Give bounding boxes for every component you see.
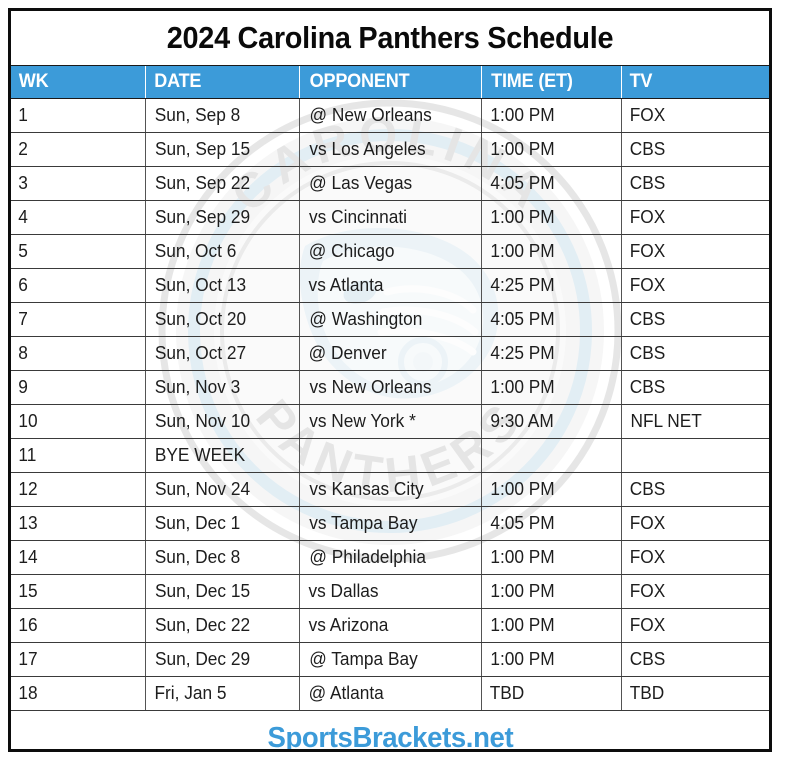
table-row: 2 Sun, Sep 15 vs Los Angeles 1:00 PM CBS [11,133,769,167]
week-value: 12 [18,479,37,500]
cell-date: Sun, Dec 1 [145,507,299,541]
cell-tv: FOX [621,609,769,643]
table-row: 10 Sun, Nov 10 vs New York * 9:30 AM NFL… [11,405,769,439]
cell-week: 2 [11,133,145,167]
cell-time: 1:00 PM [481,643,621,677]
tv-value: CBS [629,139,665,160]
cell-date: Sun, Oct 6 [145,235,299,269]
cell-week: 6 [11,269,145,303]
cell-time [481,439,621,473]
week-value: 9 [18,377,28,398]
footer-cell: SportsBrackets.net [11,711,769,753]
week-value: 2 [18,139,28,160]
cell-opponent: @ Chicago [299,235,481,269]
sportsbrackets-link[interactable]: SportsBrackets.net [267,722,513,753]
cell-date: Sun, Oct 20 [145,303,299,337]
table-row: 18 Fri, Jan 5 @ Atlanta TBD TBD [11,677,769,711]
cell-tv: NFL NET [621,405,769,439]
time-value: 1:00 PM [490,615,554,636]
date-value: Sun, Dec 8 [154,547,240,568]
time-value: 4:25 PM [490,343,554,364]
column-header-date: DATE [145,66,299,99]
opponent-value: @ Philadelphia [309,547,426,568]
cell-opponent: vs Atlanta [299,269,481,303]
column-header-row: WK DATE OPPONENT TIME (ET) TV [11,66,769,99]
cell-opponent: @ New Orleans [299,99,481,133]
cell-tv: CBS [621,337,769,371]
week-value: 1 [18,105,28,126]
table-row: 15 Sun, Dec 15 vs Dallas 1:00 PM FOX [11,575,769,609]
time-value: 4:05 PM [490,309,554,330]
cell-opponent: vs New Orleans [299,371,481,405]
cell-week: 3 [11,167,145,201]
tv-value: CBS [629,377,665,398]
schedule-grid: 2024 Carolina Panthers Schedule WK DATE … [11,11,769,752]
cell-week: 7 [11,303,145,337]
cell-time: 1:00 PM [481,201,621,235]
week-value: 17 [18,649,37,670]
table-row: 14 Sun, Dec 8 @ Philadelphia 1:00 PM FOX [11,541,769,575]
footer-row: SportsBrackets.net [11,711,769,753]
week-value: 8 [18,343,28,364]
cell-date: Sun, Dec 29 [145,643,299,677]
time-value: 1:00 PM [490,105,554,126]
cell-tv: CBS [621,303,769,337]
time-value: 1:00 PM [490,139,554,160]
cell-time: TBD [481,677,621,711]
cell-tv: CBS [621,371,769,405]
cell-time: 1:00 PM [481,371,621,405]
week-value: 14 [18,547,37,568]
cell-week: 1 [11,99,145,133]
opponent-value: @ Denver [308,343,386,364]
cell-week: 11 [11,439,145,473]
cell-date: Sun, Nov 24 [145,473,299,507]
table-row: 9 Sun, Nov 3 vs New Orleans 1:00 PM CBS [11,371,769,405]
cell-time: 9:30 AM [481,405,621,439]
table-row: 5 Sun, Oct 6 @ Chicago 1:00 PM FOX [11,235,769,269]
time-value: 1:00 PM [490,649,554,670]
table-row: 12 Sun, Nov 24 vs Kansas City 1:00 PM CB… [11,473,769,507]
week-value: 16 [18,615,37,636]
date-value: BYE WEEK [154,445,244,466]
time-value: 4:05 PM [490,513,554,534]
opponent-value: vs New Orleans [309,377,431,398]
week-value: 18 [18,683,37,704]
date-value: Sun, Oct 13 [154,275,245,296]
table-row-bye-week: 11 BYE WEEK [11,439,769,473]
cell-date: Sun, Dec 15 [145,575,299,609]
page-title-text: 2024 Carolina Panthers Schedule [167,20,613,56]
opponent-value: @ Las Vegas [309,173,412,194]
time-value: 1:00 PM [490,207,554,228]
cell-opponent: vs Tampa Bay [299,507,481,541]
date-value: Sun, Dec 15 [154,581,249,602]
tv-value: CBS [629,343,665,364]
cell-week: 12 [11,473,145,507]
time-value: 4:05 PM [490,173,554,194]
cell-date: Sun, Dec 8 [145,541,299,575]
opponent-value: vs Los Angeles [309,139,425,160]
week-value: 13 [18,513,37,534]
cell-tv: FOX [621,269,769,303]
week-value: 4 [18,207,28,228]
opponent-value: @ Tampa Bay [309,649,417,670]
opponent-value: vs Atlanta [308,275,383,296]
opponent-value: @ Washington [309,309,422,330]
week-value: 3 [18,173,28,194]
tv-value: CBS [629,173,665,194]
cell-date: Sun, Sep 29 [145,201,299,235]
cell-tv: CBS [621,167,769,201]
time-value: 1:00 PM [490,479,554,500]
date-value: Sun, Dec 29 [154,649,249,670]
cell-date: BYE WEEK [145,439,299,473]
column-header-wk: WK [11,66,145,99]
table-row: 17 Sun, Dec 29 @ Tampa Bay 1:00 PM CBS [11,643,769,677]
date-value: Sun, Oct 20 [154,309,245,330]
week-value: 5 [18,241,28,262]
date-value: Sun, Sep 15 [154,139,249,160]
cell-week: 4 [11,201,145,235]
cell-time: 1:00 PM [481,235,621,269]
date-value: Sun, Nov 24 [154,479,249,500]
table-row: 16 Sun, Dec 22 vs Arizona 1:00 PM FOX [11,609,769,643]
cell-time: 1:00 PM [481,99,621,133]
cell-opponent: vs Los Angeles [299,133,481,167]
time-value: 1:00 PM [490,581,554,602]
opponent-value: vs Cincinnati [309,207,407,228]
time-value: 1:00 PM [490,241,554,262]
week-value: 15 [18,581,37,602]
column-header-time-label: TIME (ET) [491,71,573,93]
tv-value: FOX [629,547,665,568]
tv-value: CBS [629,479,665,500]
cell-time: 4:25 PM [481,269,621,303]
cell-date: Sun, Oct 27 [145,337,299,371]
column-header-tv-label: TV [629,71,652,93]
week-value: 7 [18,309,28,330]
cell-date: Sun, Nov 3 [145,371,299,405]
cell-tv: FOX [621,507,769,541]
cell-week: 15 [11,575,145,609]
cell-tv: FOX [621,541,769,575]
opponent-value: vs Arizona [308,615,388,636]
cell-time: 4:05 PM [481,507,621,541]
opponent-value: @ New Orleans [309,105,431,126]
date-value: Sun, Nov 10 [154,411,249,432]
cell-opponent: vs Arizona [299,609,481,643]
time-value: 9:30 AM [490,411,553,432]
week-value: 11 [18,445,36,466]
time-value: 1:00 PM [490,547,554,568]
opponent-value: @ Atlanta [308,683,383,704]
cell-week: 8 [11,337,145,371]
column-header-time: TIME (ET) [481,66,621,99]
cell-date: Sun, Oct 13 [145,269,299,303]
time-value: 4:25 PM [490,275,554,296]
tv-value: FOX [629,105,665,126]
date-value: Sun, Sep 29 [154,207,249,228]
cell-tv: TBD [621,677,769,711]
tv-value: CBS [629,649,665,670]
cell-opponent: vs Dallas [299,575,481,609]
cell-date: Fri, Jan 5 [145,677,299,711]
column-header-opponent: OPPONENT [299,66,481,99]
cell-tv: FOX [621,575,769,609]
cell-tv: CBS [621,643,769,677]
tv-value: FOX [629,275,665,296]
cell-opponent [299,439,481,473]
table-row: 6 Sun, Oct 13 vs Atlanta 4:25 PM FOX [11,269,769,303]
cell-week: 14 [11,541,145,575]
schedule-table-frame: CAROLINA PANTHERS [8,8,772,752]
cell-week: 18 [11,677,145,711]
cell-date: Sun, Sep 22 [145,167,299,201]
date-value: Sun, Oct 6 [154,241,236,262]
date-value: Sun, Nov 3 [154,377,240,398]
date-value: Fri, Jan 5 [154,683,226,704]
cell-opponent: @ Denver [299,337,481,371]
cell-tv: CBS [621,133,769,167]
date-value: Sun, Dec 22 [154,615,249,636]
week-value: 6 [18,275,28,296]
cell-opponent: vs Cincinnati [299,201,481,235]
date-value: Sun, Dec 1 [154,513,240,534]
tv-value: TBD [629,683,664,704]
tv-value: FOX [629,513,665,534]
cell-time: 1:00 PM [481,541,621,575]
cell-week: 10 [11,405,145,439]
cell-tv: CBS [621,473,769,507]
cell-opponent: vs Kansas City [299,473,481,507]
opponent-value: @ Chicago [308,241,394,262]
table-row: 13 Sun, Dec 1 vs Tampa Bay 4:05 PM FOX [11,507,769,541]
schedule-page: CAROLINA PANTHERS [0,0,788,768]
cell-tv [621,439,769,473]
cell-time: 1:00 PM [481,473,621,507]
table-row: 8 Sun, Oct 27 @ Denver 4:25 PM CBS [11,337,769,371]
cell-time: 1:00 PM [481,609,621,643]
table-row: 1 Sun, Sep 8 @ New Orleans 1:00 PM FOX [11,99,769,133]
column-header-tv: TV [621,66,769,99]
cell-opponent: @ Washington [299,303,481,337]
cell-week: 9 [11,371,145,405]
cell-time: 4:05 PM [481,303,621,337]
tv-value: FOX [629,241,665,262]
cell-date: Sun, Sep 8 [145,99,299,133]
tv-value: CBS [629,309,665,330]
cell-tv: FOX [621,235,769,269]
cell-week: 17 [11,643,145,677]
week-value: 10 [18,411,37,432]
cell-week: 13 [11,507,145,541]
opponent-value: vs Kansas City [309,479,423,500]
date-value: Sun, Oct 27 [154,343,245,364]
table-row: 7 Sun, Oct 20 @ Washington 4:05 PM CBS [11,303,769,337]
title-row: 2024 Carolina Panthers Schedule [11,11,769,66]
tv-value: NFL NET [630,411,701,432]
column-header-date-label: DATE [154,71,201,93]
cell-date: Sun, Nov 10 [145,405,299,439]
tv-value: FOX [629,615,665,636]
table-row: 4 Sun, Sep 29 vs Cincinnati 1:00 PM FOX [11,201,769,235]
cell-time: 4:05 PM [481,167,621,201]
tv-value: FOX [629,581,665,602]
cell-time: 1:00 PM [481,133,621,167]
cell-time: 1:00 PM [481,575,621,609]
cell-opponent: vs New York * [299,405,481,439]
cell-opponent: @ Philadelphia [299,541,481,575]
page-title: 2024 Carolina Panthers Schedule [11,11,769,66]
cell-opponent: @ Atlanta [299,677,481,711]
cell-opponent: @ Las Vegas [299,167,481,201]
opponent-value: vs New York * [309,411,416,432]
column-header-opponent-label: OPPONENT [309,71,409,93]
table-row: 3 Sun, Sep 22 @ Las Vegas 4:05 PM CBS [11,167,769,201]
cell-date: Sun, Sep 15 [145,133,299,167]
opponent-value: vs Dallas [308,581,378,602]
cell-date: Sun, Dec 22 [145,609,299,643]
date-value: Sun, Sep 22 [154,173,249,194]
date-value: Sun, Sep 8 [154,105,240,126]
time-value: 1:00 PM [490,377,554,398]
cell-time: 4:25 PM [481,337,621,371]
column-header-wk-label: WK [19,71,49,93]
tv-value: FOX [629,207,665,228]
time-value: TBD [489,683,524,704]
cell-tv: FOX [621,99,769,133]
cell-week: 16 [11,609,145,643]
cell-week: 5 [11,235,145,269]
cell-tv: FOX [621,201,769,235]
cell-opponent: @ Tampa Bay [299,643,481,677]
opponent-value: vs Tampa Bay [309,513,417,534]
